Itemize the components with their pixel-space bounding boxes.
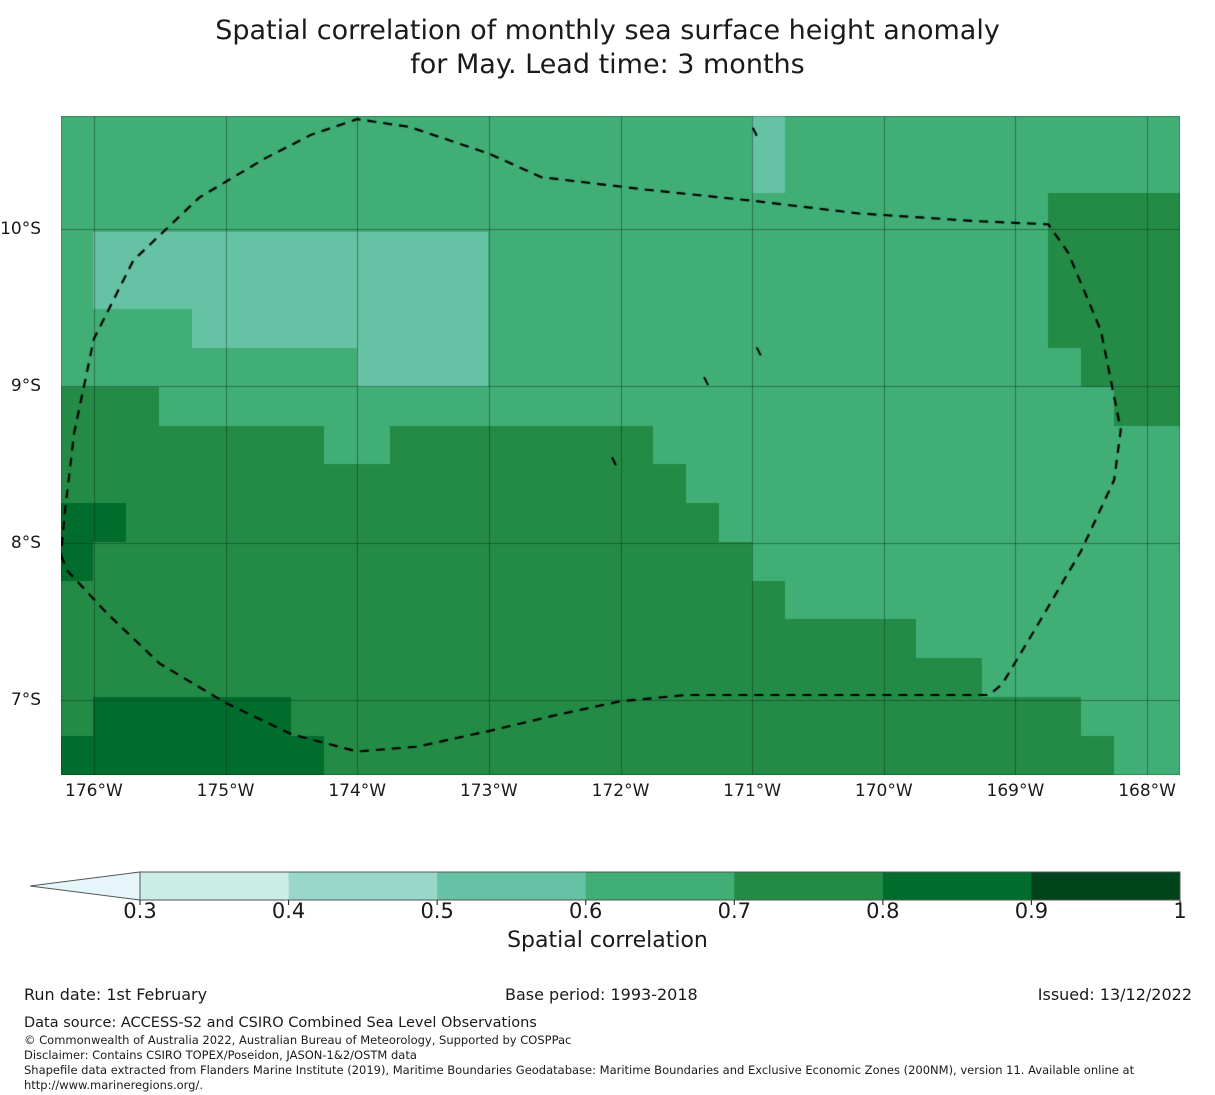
page-title: Spatial correlation of monthly sea surfa… (0, 14, 1215, 82)
colorbar-segment (1031, 872, 1180, 900)
metadata-row: Run date: 1st February Base period: 1993… (0, 985, 1215, 1007)
data-source-text: Data source: ACCESS-S2 and CSIRO Combine… (24, 1014, 1204, 1033)
y-axis-tick-7S: 7°S (11, 690, 41, 710)
disclaimer-text: Disclaimer: Contains CSIRO TOPEX/Poseido… (24, 1048, 1204, 1063)
y-axis-tick-10S: 10°S (0, 219, 41, 239)
colorbar-tick-0-4: 0.4 (272, 899, 305, 923)
shapefile-url-text: http://www.marineregions.org/. (24, 1078, 1204, 1093)
colorbar-tick-0-6: 0.6 (569, 899, 602, 923)
colorbar-tick-0-5: 0.5 (420, 899, 453, 923)
colorbar-segment (586, 872, 735, 900)
shapefile-credit-text: Shapefile data extracted from Flanders M… (24, 1063, 1204, 1078)
colorbar-tick-0-9: 0.9 (1015, 899, 1048, 923)
colorbar-segment (734, 872, 883, 900)
y-axis-tick-8S: 8°S (11, 533, 41, 553)
x-axis-tick-168W: 168°W (1118, 781, 1176, 801)
y-axis-tick-9S: 9°S (11, 376, 41, 396)
colorbar-segment (883, 872, 1032, 900)
base-period-text: Base period: 1993-2018 (505, 985, 698, 1004)
colorbar-segment (289, 872, 438, 900)
colorbar-segment (437, 872, 586, 900)
credits-block: Data source: ACCESS-S2 and CSIRO Combine… (24, 1014, 1204, 1093)
colorbar-under-arrow (30, 872, 140, 900)
map-plot-area (61, 116, 1180, 775)
x-axis-tick-172W: 172°W (592, 781, 650, 801)
colorbar-tick-0-8: 0.8 (866, 899, 899, 923)
issued-date-text: Issued: 13/12/2022 (1038, 985, 1192, 1004)
x-axis-tick-170W: 170°W (855, 781, 913, 801)
x-axis-tick-176W: 176°W (65, 781, 123, 801)
x-axis-tick-174W: 174°W (328, 781, 386, 801)
run-date-text: Run date: 1st February (24, 985, 207, 1004)
spatial-correlation-heatmap (61, 116, 1180, 775)
colorbar-tick-0-3: 0.3 (123, 899, 156, 923)
colorbar-tick-0-7: 0.7 (718, 899, 751, 923)
x-axis-tick-169W: 169°W (987, 781, 1045, 801)
colorbar-label: Spatial correlation (0, 928, 1215, 953)
colorbar-segment (140, 872, 289, 900)
copyright-text: © Commonwealth of Australia 2022, Austra… (24, 1033, 1204, 1048)
x-axis-tick-171W: 171°W (723, 781, 781, 801)
colorbar-tick-1: 1 (1173, 899, 1186, 923)
x-axis-tick-175W: 175°W (197, 781, 255, 801)
x-axis-tick-173W: 173°W (460, 781, 518, 801)
